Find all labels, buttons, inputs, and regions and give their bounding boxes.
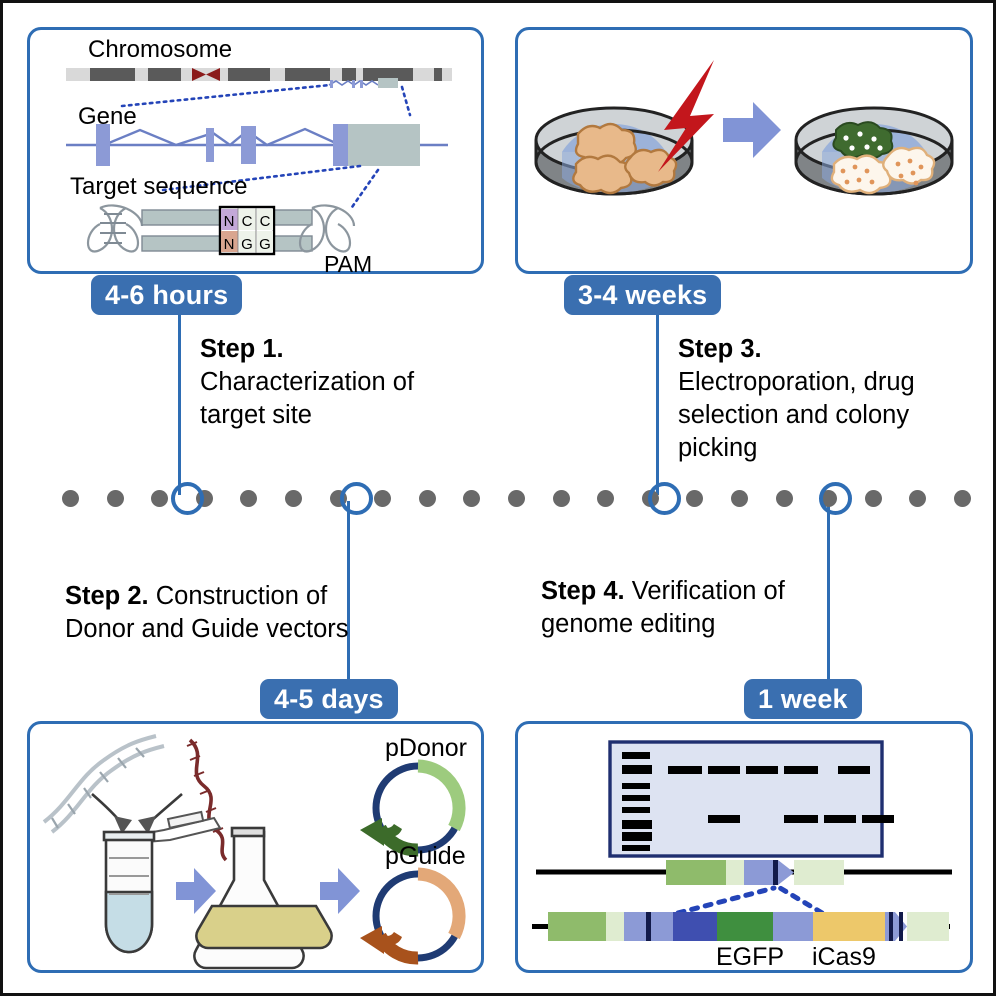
donor-construct [532,912,950,941]
step-3-number: Step 3. [678,335,762,363]
connector-step3 [656,313,659,495]
badge-duration-step1[interactable]: 4-6 hours [91,275,242,315]
pguide-label: pGuide [385,842,466,871]
target-sequence-label: Target sequence [70,173,247,201]
timeline-dot [731,490,748,507]
panel-verification: EGFP iCas9 [515,721,973,973]
pdonor-label: pDonor [385,734,467,763]
pdonor-plasmid [360,766,460,850]
timeline-dot [107,490,124,507]
step-2-number: Step 2. [65,582,149,610]
arrow-icon-2 [320,868,360,914]
step-1-description: Characterization of target site [200,368,414,429]
step-4-text: Step 4. Verification of genome editing [541,575,831,641]
timeline-milestone-3[interactable] [648,482,681,515]
step-3-text: Step 3. Electroporation, drug selection … [678,333,948,466]
chromosome-label: Chromosome [88,36,232,64]
badge-duration-step4[interactable]: 1 week [744,679,862,719]
timeline-dot [419,490,436,507]
pguide-plasmid [360,874,460,958]
egfp-label: EGFP [716,943,784,972]
timeline-dot [62,490,79,507]
gene-label: Gene [78,103,137,131]
targeted-locus [536,860,952,885]
timeline-dot [240,490,257,507]
step-1-text: Step 1. Characterization of target site [200,333,450,432]
pam-label: PAM [324,251,372,278]
svg-text:C: C [242,213,253,230]
step-3-description: Electroporation, drug selection and colo… [678,368,915,462]
dsdna-icon [44,736,164,832]
target-sequence-duplex: N C C N G G [88,205,354,254]
gel-lower-bands [708,815,894,823]
timeline-dot [151,490,168,507]
gel-image [610,742,894,856]
culture-dish-before [536,60,714,194]
timeline-dot [776,490,793,507]
svg-text:C: C [260,213,271,230]
timeline-milestone-1[interactable] [171,482,204,515]
arrow-icon [723,102,781,158]
badge-duration-step3[interactable]: 3-4 weeks [564,275,721,315]
timeline-dot [954,490,971,507]
connector-step1 [178,313,181,495]
timeline-dot [553,490,570,507]
step-1-number: Step 1. [200,335,284,363]
svg-text:G: G [259,236,271,253]
zoom-dotted-chromosome [122,85,410,115]
icas9-label: iCas9 [812,943,876,972]
badge-duration-step2[interactable]: 4-5 days [260,679,398,719]
gel-upper-bands [668,766,870,774]
timeline-dot [508,490,525,507]
panel-target-characterization: N C C N G G Chromosome Gene Target seque… [27,27,484,274]
timeline-milestone-4[interactable] [819,482,852,515]
svg-text:G: G [241,236,253,253]
timeline-dot [463,490,480,507]
flask-icon [194,828,331,968]
pam-box: N C C N G G [220,207,274,254]
timeline-dot [686,490,703,507]
culture-dish-after [796,108,952,194]
svg-text:N: N [224,213,235,230]
microtube-icon [104,832,154,952]
panel4-artwork [518,724,970,970]
panel-electroporation [515,27,973,274]
timeline-track [3,481,996,517]
panel1-artwork: N C C N G G [30,30,481,271]
timeline-dot [597,490,614,507]
step-2-text: Step 2. Construction of Donor and Guide … [65,580,350,646]
timeline-dot [374,490,391,507]
panel-vector-construction: pDonor pGuide [27,721,484,973]
timeline-milestone-2[interactable] [340,482,373,515]
panel2-artwork [518,30,970,271]
workflow-figure: N C C N G G Chromosome Gene Target seque… [0,0,996,996]
svg-text:N: N [224,236,235,253]
timeline-dot [865,490,882,507]
timeline-dot [285,490,302,507]
step-4-number: Step 4. [541,577,625,605]
timeline-dot [909,490,926,507]
